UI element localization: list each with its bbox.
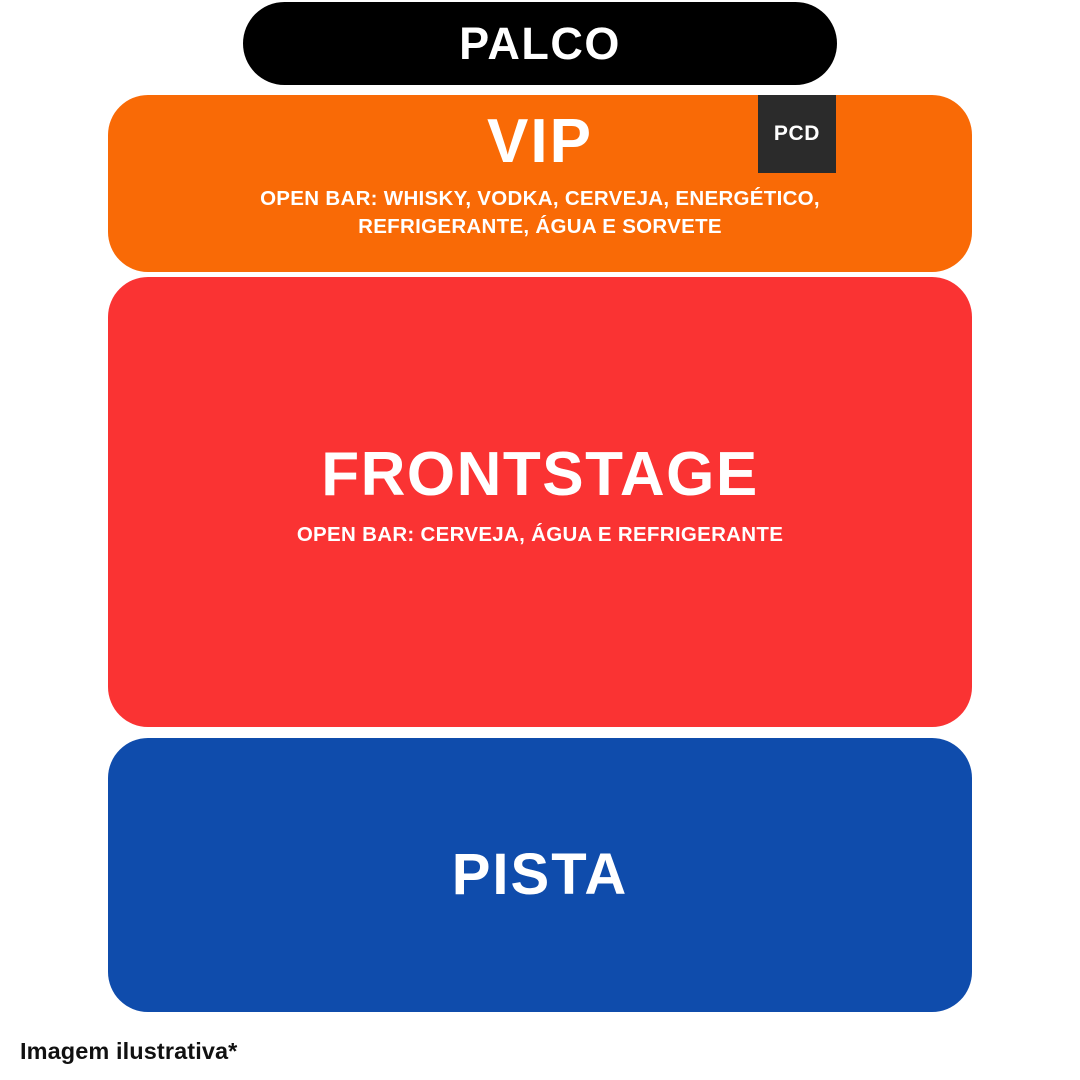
pcd-badge[interactable]: PCD [758, 95, 836, 173]
zone-palco-title: PALCO [459, 21, 621, 66]
zone-frontstage-title: FRONTSTAGE [321, 442, 759, 507]
zone-vip[interactable]: VIP OPEN BAR: WHISKY, VODKA, CERVEJA, EN… [108, 95, 972, 272]
zone-pista[interactable]: PISTA [108, 738, 972, 1012]
zone-palco[interactable]: PALCO [243, 2, 837, 85]
map-caption: Imagem ilustrativa* [20, 1038, 237, 1065]
zone-pista-title: PISTA [452, 845, 629, 906]
venue-seating-map: PALCO VIP OPEN BAR: WHISKY, VODKA, CERVE… [0, 0, 1080, 1080]
zone-frontstage-subtitle: OPEN BAR: CERVEJA, ÁGUA E REFRIGERANTE [297, 521, 783, 549]
zone-vip-title: VIP [487, 109, 593, 174]
pcd-badge-label: PCD [774, 122, 820, 146]
zone-vip-subtitle: OPEN BAR: WHISKY, VODKA, CERVEJA, ENERGÉ… [240, 185, 840, 242]
zone-frontstage[interactable]: FRONTSTAGE OPEN BAR: CERVEJA, ÁGUA E REF… [108, 277, 972, 727]
